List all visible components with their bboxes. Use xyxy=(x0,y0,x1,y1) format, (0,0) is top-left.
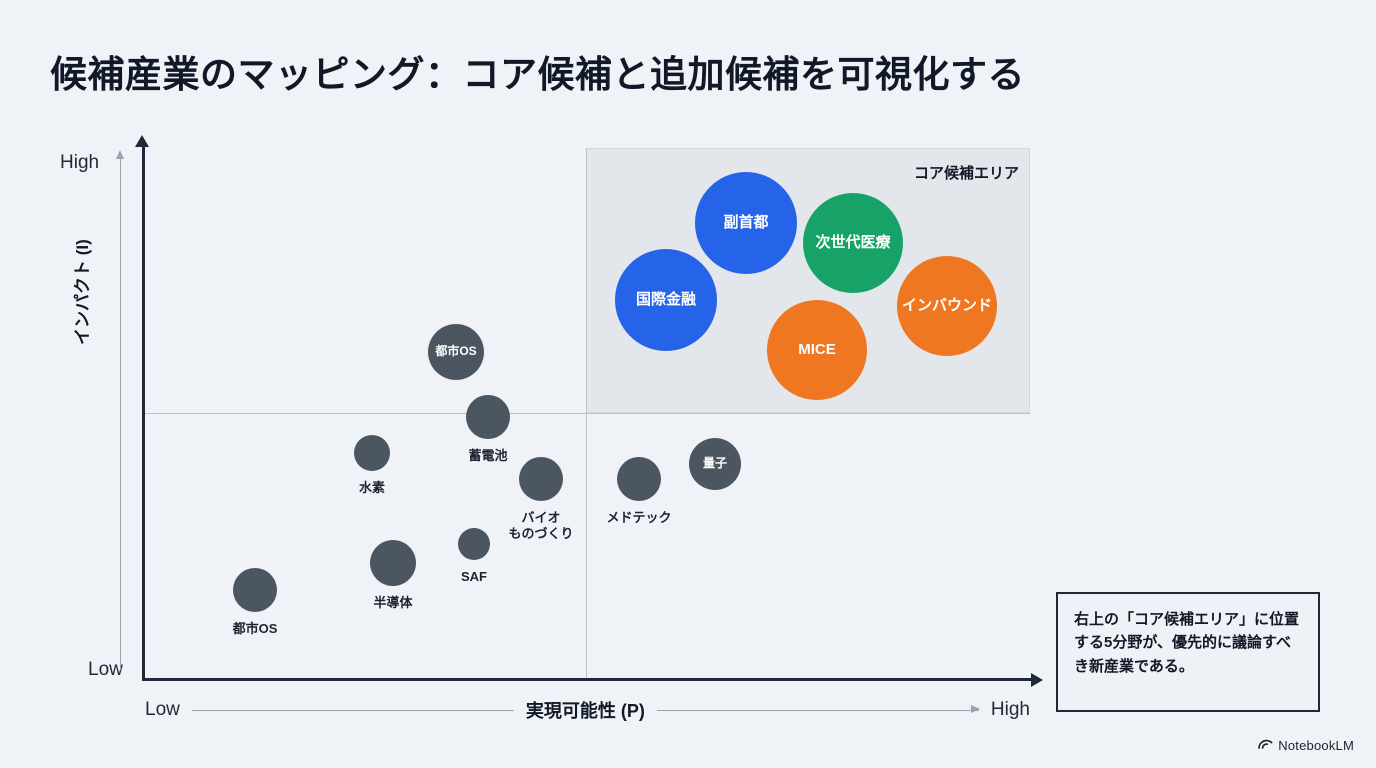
slide-canvas: 候補産業のマッピング：コア候補と追加候補を可視化する High Low インパク… xyxy=(0,0,1376,768)
bubble-additional[interactable] xyxy=(354,435,390,471)
core-candidate-area-label: コア候補エリア xyxy=(914,162,1019,183)
bubble-additional[interactable] xyxy=(466,395,510,439)
x-axis-rule-right xyxy=(657,710,979,711)
scatter-plot-area: コア候補エリア 副首都国際金融次世代医療MICEインバウンド都市OS蓄電池水素バ… xyxy=(145,148,1030,678)
bubble-additional[interactable] xyxy=(233,568,277,612)
bubble-label: SAF xyxy=(461,569,487,585)
x-axis-low-label: Low xyxy=(145,699,180,721)
bubble-additional[interactable]: 量子 xyxy=(689,438,741,490)
x-axis-high-label: High xyxy=(991,699,1030,721)
notebooklm-watermark: NotebookLM xyxy=(1258,736,1354,754)
bubble-label: 量子 xyxy=(703,457,727,470)
y-axis-direction-arrow xyxy=(120,158,121,670)
x-axis-title: 実現可能性 (P) xyxy=(526,697,645,723)
bubble-label: 都市OS xyxy=(435,345,476,358)
x-axis-line xyxy=(142,678,1032,681)
y-axis-arrow-head xyxy=(135,135,149,147)
x-axis-rule-left xyxy=(192,710,514,711)
y-axis-low-label: Low xyxy=(88,659,123,681)
bubble-label: 都市OS xyxy=(233,621,278,637)
bubble-label: 蓄電池 xyxy=(468,448,507,464)
notebooklm-watermark-label: NotebookLM xyxy=(1278,738,1354,753)
bubble-core[interactable]: インバウンド xyxy=(897,256,997,356)
x-axis-caption: Low 実現可能性 (P) High xyxy=(145,697,1030,723)
bubble-additional[interactable]: 都市OS xyxy=(428,324,484,380)
y-axis-title: インパクト (I) xyxy=(68,239,93,345)
bubble-core[interactable]: 国際金融 xyxy=(615,249,717,351)
bubble-core[interactable]: MICE xyxy=(767,300,867,400)
x-axis-arrow-head xyxy=(1031,673,1043,687)
y-axis-high-label: High xyxy=(60,152,99,174)
bubble-label: 副首都 xyxy=(723,215,768,232)
bubble-label: インバウンド xyxy=(902,298,992,315)
callout-text: 右上の「コア候補エリア」に位置する5分野が、優先的に議論すべき新産業である。 xyxy=(1074,608,1302,678)
bubble-additional[interactable] xyxy=(519,457,563,501)
bubble-label: 水素 xyxy=(359,480,385,496)
bubble-core[interactable]: 副首都 xyxy=(695,172,797,274)
bubble-additional[interactable] xyxy=(617,457,661,501)
notebooklm-arc-icon xyxy=(1258,736,1273,754)
quadrant-divider-horizontal xyxy=(145,413,1030,414)
callout-box: 右上の「コア候補エリア」に位置する5分野が、優先的に議論すべき新産業である。 xyxy=(1056,592,1320,712)
page-title: 候補産業のマッピング：コア候補と追加候補を可視化する xyxy=(50,44,1025,98)
bubble-label: MICE xyxy=(798,342,836,359)
bubble-core[interactable]: 次世代医療 xyxy=(803,193,903,293)
bubble-label: 国際金融 xyxy=(636,292,696,309)
bubble-additional[interactable] xyxy=(458,528,490,560)
bubble-label: 次世代医療 xyxy=(815,235,890,252)
bubble-additional[interactable] xyxy=(370,540,416,586)
bubble-label: バイオものづくり xyxy=(508,510,573,541)
bubble-label: メドテック xyxy=(606,510,671,526)
bubble-label: 半導体 xyxy=(373,595,412,611)
y-axis-line xyxy=(142,145,145,678)
